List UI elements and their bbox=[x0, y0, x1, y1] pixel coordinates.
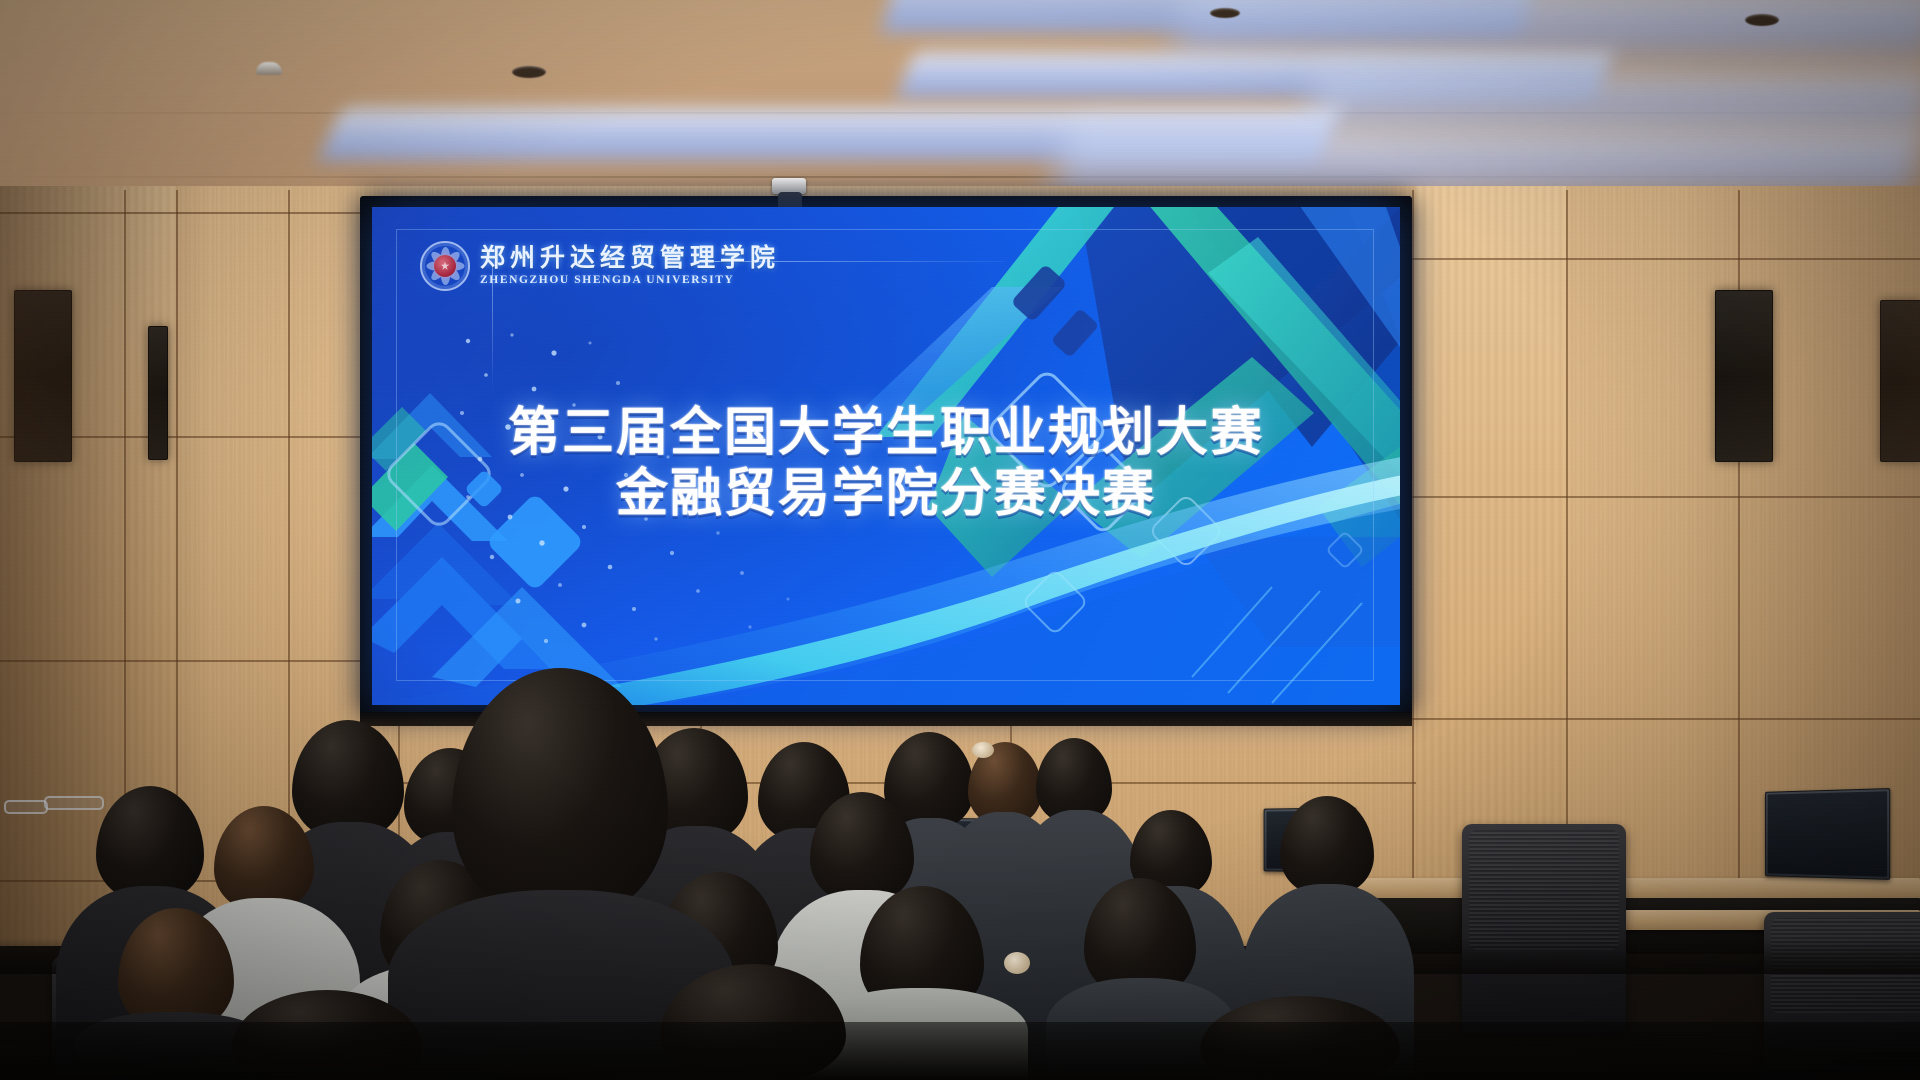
university-name-en: ZHENGZHOU SHENGDA UNIVERSITY bbox=[480, 274, 780, 286]
ceiling-dome-camera-icon bbox=[256, 62, 282, 75]
audience bbox=[0, 560, 1920, 1080]
audience-head bbox=[1280, 796, 1374, 896]
photo-scene: 郑州升达经贸管理学院 ZHENGZHOU SHENGDA UNIVERSITY … bbox=[0, 0, 1920, 1080]
audience-head-front bbox=[452, 668, 668, 918]
eyeglasses-icon bbox=[44, 796, 104, 810]
slide-title-line-1: 第三届全国大学生职业规划大赛 bbox=[372, 403, 1400, 464]
audience-head bbox=[96, 786, 204, 902]
hair-clip-icon bbox=[1004, 952, 1030, 974]
ceiling-light-panel bbox=[1172, 0, 1920, 54]
university-name-cn: 郑州升达经贸管理学院 bbox=[480, 246, 780, 272]
slide-title-line-2: 金融贸易学院分赛决赛 bbox=[372, 464, 1400, 525]
slide-title: 第三届全国大学生职业规划大赛 金融贸易学院分赛决赛 bbox=[372, 403, 1400, 526]
ceiling-speaker-icon bbox=[1210, 8, 1240, 18]
ceiling-light-panel bbox=[1051, 126, 1920, 192]
hair-clip-icon bbox=[972, 742, 994, 758]
university-seal-icon bbox=[420, 241, 470, 291]
university-branding: 郑州升达经贸管理学院 ZHENGZHOU SHENGDA UNIVERSITY bbox=[420, 241, 780, 291]
ceiling-speaker-icon bbox=[1745, 14, 1779, 26]
foreground-silhouette-band bbox=[0, 1022, 1920, 1080]
ceiling bbox=[0, 0, 1920, 200]
ceiling-speaker-icon bbox=[512, 66, 546, 78]
audience-head bbox=[214, 806, 314, 912]
ceiling-light-panel bbox=[1303, 70, 1920, 128]
eyeglasses-icon bbox=[4, 800, 48, 814]
